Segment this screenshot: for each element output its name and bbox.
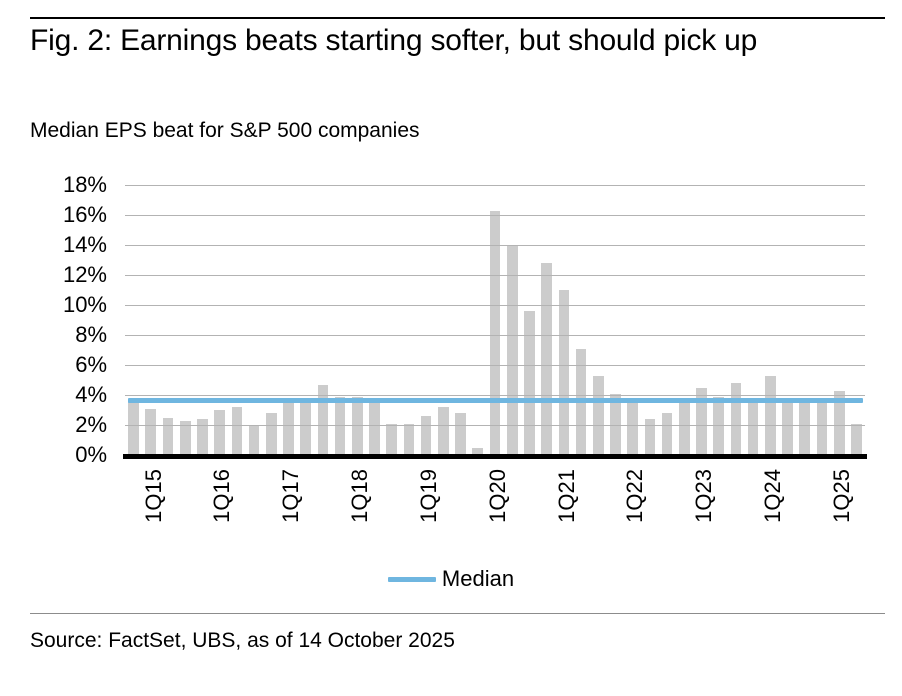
bar xyxy=(249,425,260,455)
bar xyxy=(765,376,776,456)
figure-subtitle: Median EPS beat for S&P 500 companies xyxy=(30,118,420,144)
x-axis-tick-label: 1Q22 xyxy=(624,469,646,523)
bar xyxy=(438,407,449,455)
bar xyxy=(490,211,501,456)
bar xyxy=(748,401,759,455)
bar xyxy=(627,401,638,455)
y-axis-tick-label: 2% xyxy=(75,414,107,436)
plot-area xyxy=(125,185,865,455)
bar xyxy=(128,401,139,455)
bar xyxy=(455,413,466,455)
bar xyxy=(817,400,828,456)
legend-label-median: Median xyxy=(442,568,514,590)
x-axis-labels: 1Q151Q161Q171Q181Q191Q201Q211Q221Q231Q24… xyxy=(125,465,865,575)
y-axis-tick-label: 6% xyxy=(75,354,107,376)
y-axis-tick-label: 4% xyxy=(75,384,107,406)
median-reference-line xyxy=(128,398,862,403)
gridline xyxy=(125,425,865,426)
x-axis-tick-label: 1Q20 xyxy=(487,469,509,523)
source-note: Source: FactSet, UBS, as of 14 October 2… xyxy=(30,628,455,654)
bar xyxy=(731,383,742,455)
bar xyxy=(163,418,174,456)
bar xyxy=(386,424,397,456)
bar xyxy=(524,311,535,455)
median-line-swatch xyxy=(388,577,436,582)
bar xyxy=(214,410,225,455)
y-axis-labels: 18%16%14%12%10%8%6%4%2%0% xyxy=(0,170,115,470)
gridline xyxy=(125,335,865,336)
bar xyxy=(593,376,604,456)
bar xyxy=(145,409,156,456)
bar xyxy=(283,403,294,456)
y-axis-tick-label: 12% xyxy=(63,264,107,286)
x-axis-tick-label: 1Q17 xyxy=(280,469,302,523)
x-axis-tick-label: 1Q25 xyxy=(831,469,853,523)
bar xyxy=(266,413,277,455)
x-axis-tick-label: 1Q15 xyxy=(143,469,165,523)
x-axis-tick-label: 1Q21 xyxy=(556,469,578,523)
bar xyxy=(421,416,432,455)
gridline xyxy=(125,365,865,366)
gridline xyxy=(125,275,865,276)
chart-area: 18%16%14%12%10%8%6%4%2%0% 1Q151Q161Q171Q… xyxy=(0,170,902,600)
bottom-rule xyxy=(30,613,885,614)
y-axis-tick-label: 8% xyxy=(75,324,107,346)
bar xyxy=(232,407,243,455)
bar xyxy=(662,413,673,455)
bar-series xyxy=(125,185,865,455)
bar xyxy=(300,403,311,456)
x-axis-tick-label: 1Q19 xyxy=(418,469,440,523)
gridline xyxy=(125,305,865,306)
y-axis-tick-label: 14% xyxy=(63,234,107,256)
bar xyxy=(851,424,862,456)
x-axis-line xyxy=(123,454,867,459)
x-axis-tick-label: 1Q24 xyxy=(762,469,784,523)
bar xyxy=(541,263,552,455)
x-axis-tick-label: 1Q23 xyxy=(693,469,715,523)
y-axis-tick-label: 16% xyxy=(63,204,107,226)
bar xyxy=(679,398,690,455)
y-axis-tick-label: 10% xyxy=(63,294,107,316)
bar xyxy=(782,400,793,456)
x-axis-tick-label: 1Q18 xyxy=(349,469,371,523)
gridline xyxy=(125,215,865,216)
x-axis-tick-label: 1Q16 xyxy=(211,469,233,523)
bar xyxy=(507,245,518,455)
gridline xyxy=(125,185,865,186)
gridline xyxy=(125,245,865,246)
bar xyxy=(799,401,810,455)
figure-page: Fig. 2: Earnings beats starting softer, … xyxy=(0,0,902,696)
bar xyxy=(369,400,380,456)
bar xyxy=(404,424,415,456)
y-axis-tick-label: 0% xyxy=(75,444,107,466)
y-axis-tick-label: 18% xyxy=(63,174,107,196)
gridline xyxy=(125,395,865,396)
figure-title: Fig. 2: Earnings beats starting softer, … xyxy=(30,22,870,60)
chart-legend: Median xyxy=(0,568,902,590)
top-rule xyxy=(30,17,885,19)
bar xyxy=(559,290,570,455)
